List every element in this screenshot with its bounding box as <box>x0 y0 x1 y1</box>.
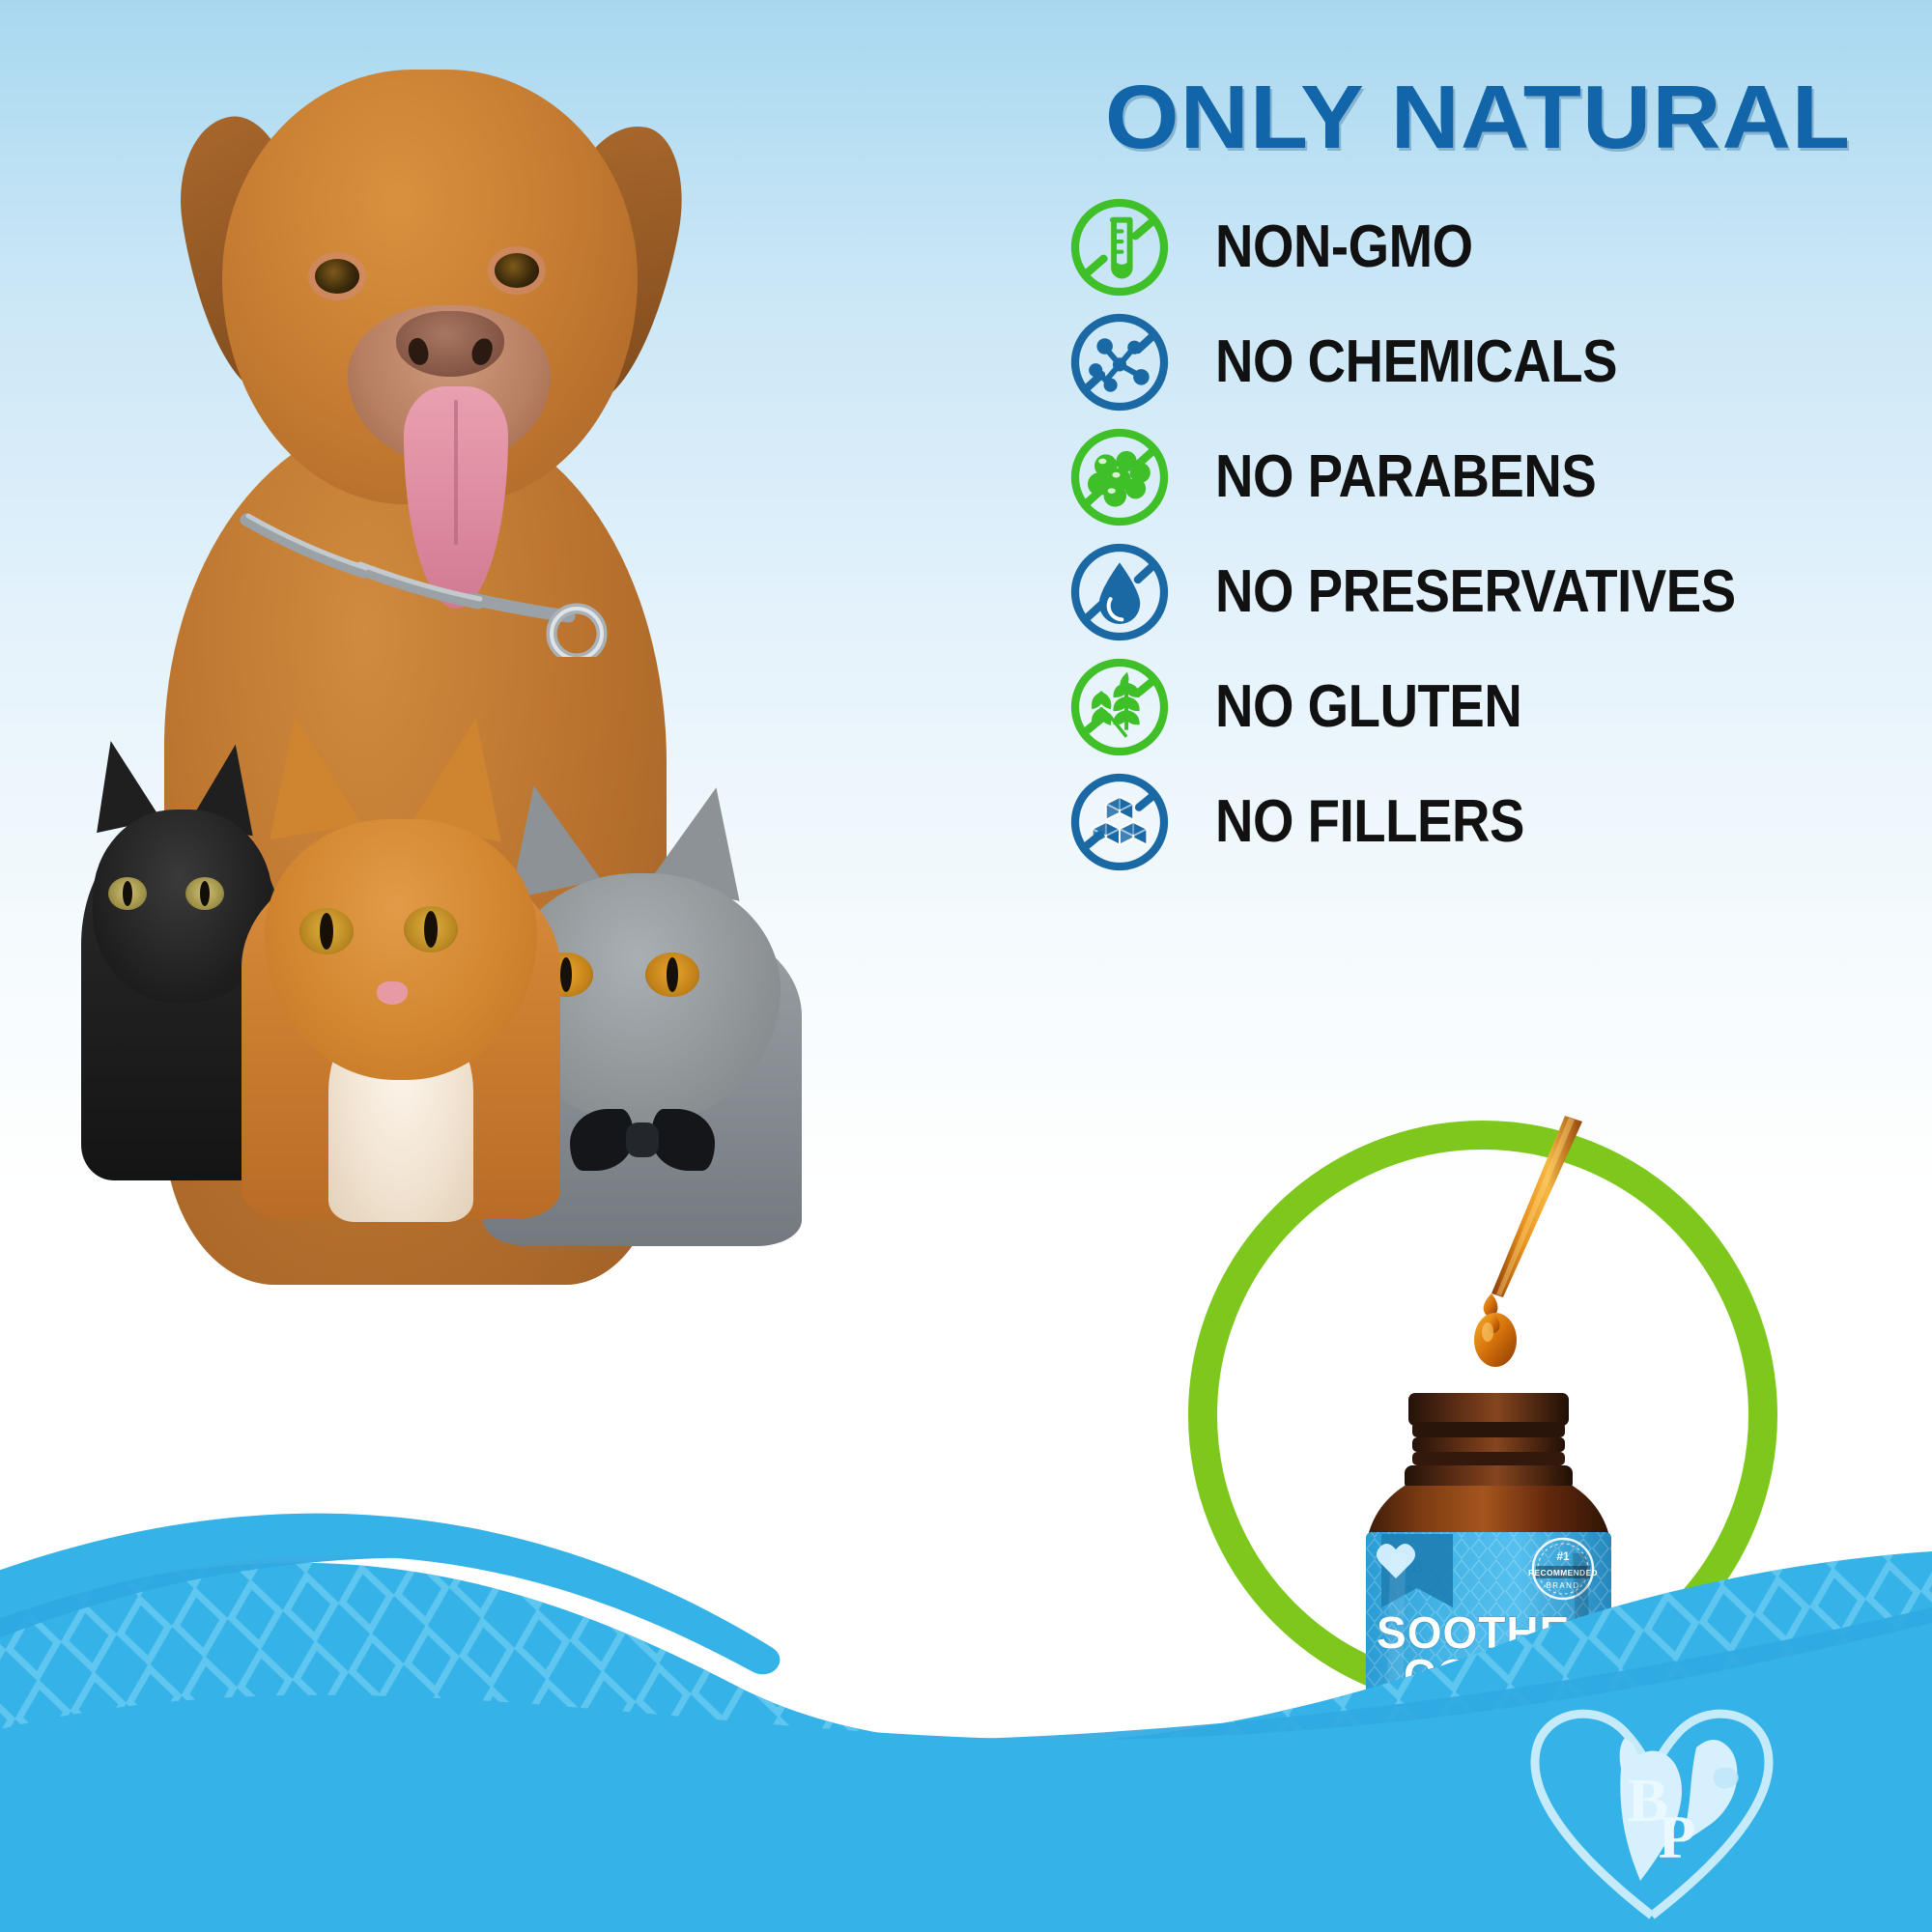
dog-nose <box>396 311 504 377</box>
cat-black-eye-right <box>185 877 224 910</box>
cat-grey-eye-right <box>645 952 699 997</box>
cat-orange-ear-left <box>249 708 361 840</box>
svg-text:B: B <box>1411 1558 1422 1577</box>
cat-orange-tabby <box>241 715 560 1217</box>
feature-label: NO FILLERS <box>1215 792 1524 852</box>
feature-list: NON-GMO NO CHEMICALS <box>1063 189 1932 879</box>
cat-orange-eye-left <box>299 908 354 954</box>
feature-item-no-chemicals: NO CHEMICALS <box>1063 304 1932 419</box>
dog-eye-left <box>315 259 359 294</box>
feature-label: NON-GMO <box>1215 217 1473 277</box>
glass-dropper-icon <box>1461 1116 1596 1406</box>
feature-label: NO CHEMICALS <box>1215 332 1617 392</box>
no-berries-icon <box>1063 420 1177 534</box>
feature-label: NO PRESERVATIVES <box>1215 562 1736 622</box>
animal-group-photo <box>0 0 985 1700</box>
feature-item-no-gluten: NO GLUTEN <box>1063 649 1932 764</box>
feature-label: NO GLUTEN <box>1215 677 1521 737</box>
feature-label: NO PARABENS <box>1215 447 1596 507</box>
no-sugar-cubes-icon <box>1063 765 1177 879</box>
no-test-tube-icon <box>1063 190 1177 304</box>
no-wheat-icon <box>1063 650 1177 764</box>
feature-item-no-parabens: NO PARABENS <box>1063 419 1932 534</box>
svg-text:#1: #1 <box>1556 1549 1570 1563</box>
no-droplet-icon <box>1063 535 1177 649</box>
feature-item-no-fillers: NO FILLERS <box>1063 764 1932 879</box>
cat-orange-nose <box>377 981 408 1005</box>
dog-chain-collar <box>237 502 623 657</box>
product-showcase: B #1 RECOMMENDED BRAND SOOTHES COUGH & t… <box>1188 1121 1777 1710</box>
feature-item-no-preservatives: NO PRESERVATIVES <box>1063 534 1932 649</box>
feature-item-non-gmo: NON-GMO <box>1063 189 1932 304</box>
brand-logo: B P <box>1507 1676 1797 1932</box>
no-molecule-icon <box>1063 305 1177 419</box>
page-title: ONLY NATURAL <box>1017 66 1932 169</box>
cat-grey-bowtie <box>570 1109 715 1171</box>
cat-black-eye-left <box>108 877 147 910</box>
promo-graphic: ONLY NATURAL NON-GMO <box>0 0 1932 1932</box>
cat-orange-eye-right <box>404 906 458 952</box>
svg-text:P: P <box>1658 1803 1695 1871</box>
dog-eye-right <box>495 253 539 288</box>
